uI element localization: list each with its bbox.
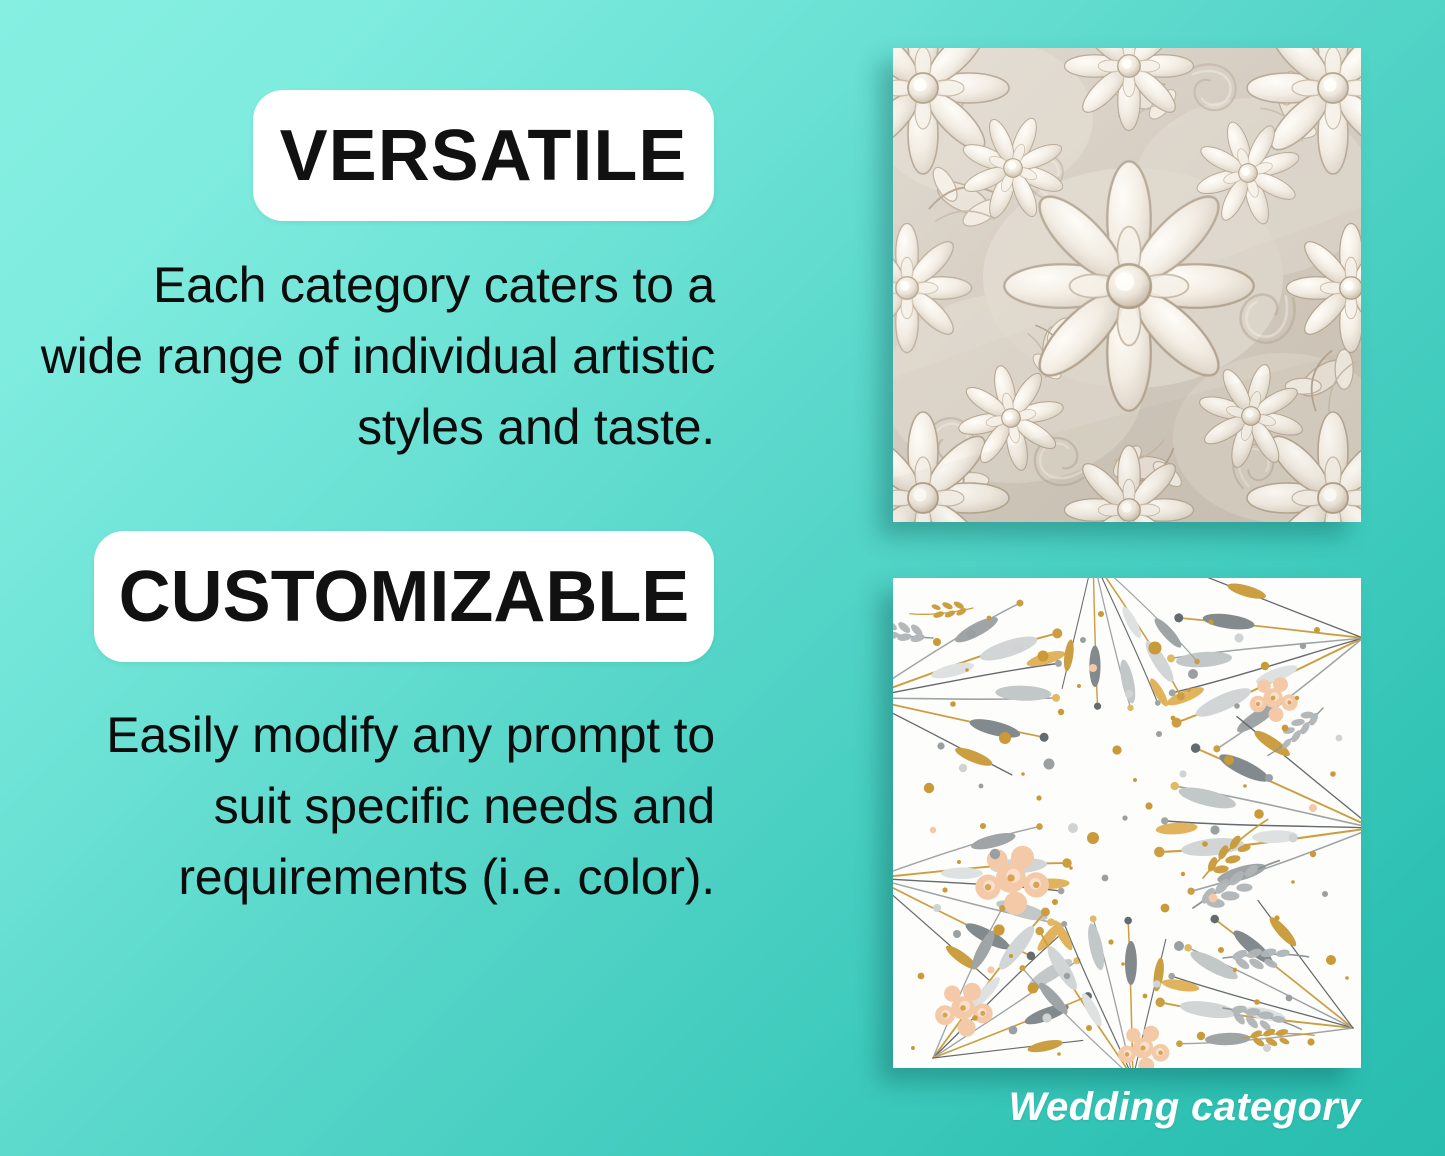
body-copy-versatile: Each category caters to a wide range of … [40, 250, 715, 463]
badge-versatile-label: VERSATILE [280, 120, 688, 192]
badge-customizable: CUSTOMIZABLE [94, 531, 714, 662]
promo-poster: VERSATILE Each category caters to a wide… [0, 0, 1445, 1156]
left-text-column: VERSATILE Each category caters to a wide… [0, 0, 760, 1156]
damask-pattern-image [893, 48, 1361, 522]
caption-wedding-category: Wedding category [893, 1085, 1361, 1130]
badge-customizable-label: CUSTOMIZABLE [119, 561, 690, 633]
artwork-card-damask [893, 48, 1361, 522]
botanical-pattern-image [893, 578, 1361, 1068]
body-copy-customizable: Easily modify any prompt to suit specifi… [40, 700, 715, 913]
artwork-card-botanical [893, 578, 1361, 1068]
badge-versatile: VERSATILE [253, 90, 714, 221]
